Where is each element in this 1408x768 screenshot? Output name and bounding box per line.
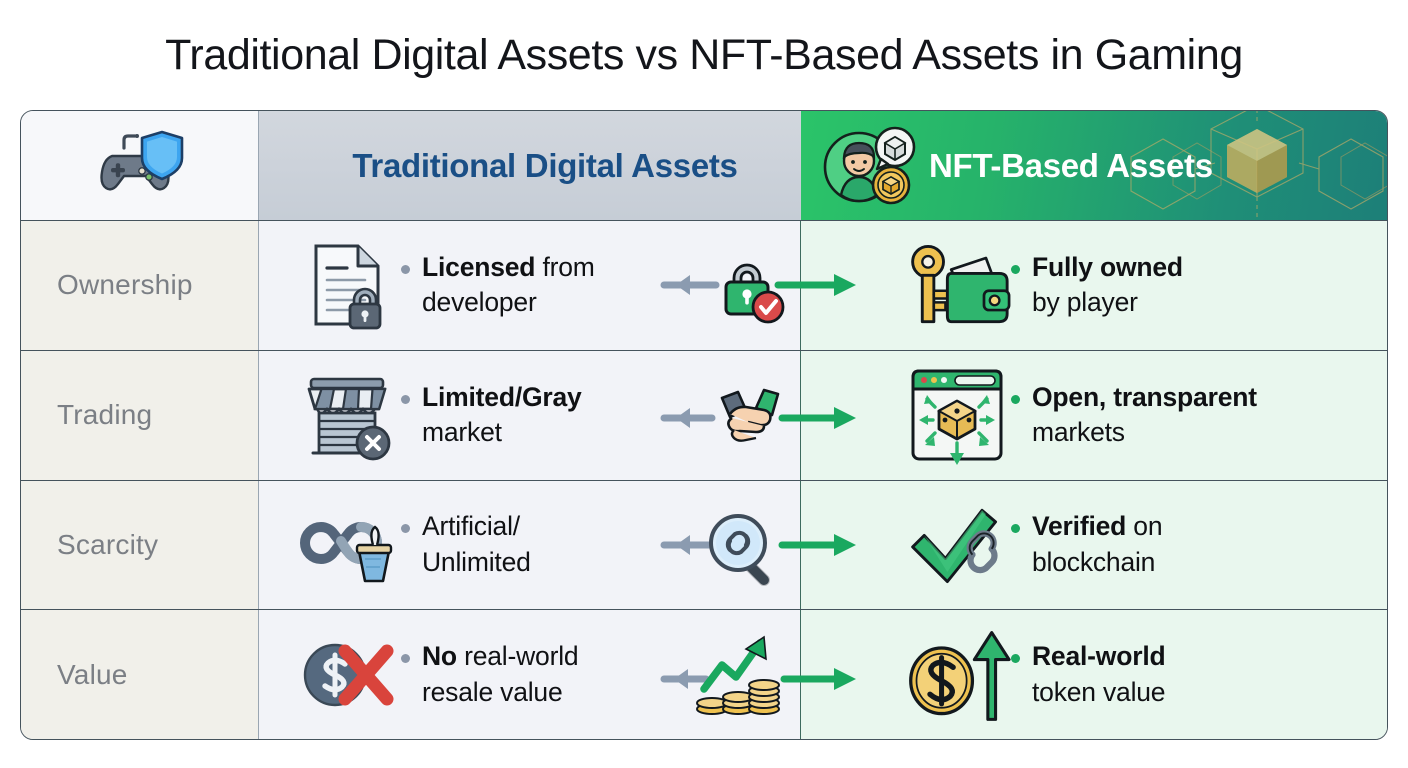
checkmark-chain-icon [903,499,1011,591]
bullet-dot-icon [1011,395,1020,404]
bullet-line2: by player [1032,287,1138,317]
cell-traditional-trading: Limited/Gray market [259,351,801,480]
bullet-line2: Unlimited [422,547,531,577]
bullet-line2: blockchain [1032,547,1155,577]
bullet-strong: No [422,641,457,671]
bullet-line2: developer [422,287,537,317]
page-title: Traditional Digital Assets vs NFT-Based … [0,0,1408,79]
bullet-traditional-ownership: Licensed from developer [401,250,605,321]
bullet-nft-trading: Open, transparent markets [1011,380,1267,451]
header-traditional-cell: Traditional Digital Assets [259,111,801,220]
bullet-dot-icon [1011,654,1020,663]
header-label-cell [21,111,259,220]
infinity-bucket-icon [293,505,401,585]
bullet-traditional-trading: Limited/Gray market [401,380,592,451]
bullet-strong: Licensed [422,252,535,282]
key-wallet-icon [903,239,1011,331]
cell-nft-value: Real-world token value [801,610,1387,739]
table-header-row: Traditional Digital Assets [21,111,1387,221]
header-nft-title: NFT-Based Assets [929,147,1213,185]
header-traditional-title: Traditional Digital Assets [352,147,737,185]
bullet-line2: token value [1032,677,1165,707]
avatar-nft-cube-icon [819,123,923,214]
cell-traditional-scarcity: Artificial/ Unlimited [259,481,801,610]
bullet-dot-icon [401,265,410,274]
bullet-rest: Artificial/ [422,511,520,541]
bullet-line2: resale value [422,677,563,707]
bullet-strong: Limited/Gray [422,382,582,412]
table-row: Trading [21,351,1387,481]
bullet-rest: on [1126,511,1162,541]
cell-nft-trading: Open, transparent markets [801,351,1387,480]
bullet-traditional-value: No real-world resale value [401,639,588,710]
row-label-value: Value [21,610,259,739]
row-label-ownership: Ownership [21,221,259,350]
dollar-coin-cross-icon [293,631,401,719]
table-row: Value No real-world resale value [21,610,1387,739]
row-label-scarcity: Scarcity [21,481,259,610]
bullet-nft-ownership: Fully owned by player [1011,250,1193,321]
bullet-strong: Verified [1032,511,1126,541]
bullet-strong: Fully owned [1032,252,1183,282]
bullet-strong: Real-world [1032,641,1165,671]
bullet-dot-icon [1011,524,1020,533]
bullet-traditional-scarcity: Artificial/ Unlimited [401,509,541,580]
bullet-line2: market [422,417,502,447]
bullet-dot-icon [401,654,410,663]
bullet-line2: markets [1032,417,1125,447]
bullet-dot-icon [401,395,410,404]
bullet-dot-icon [1011,265,1020,274]
header-nft-cell: NFT-Based Assets [801,111,1387,220]
bullet-nft-value: Real-world token value [1011,639,1175,710]
comparison-table: Traditional Digital Assets [20,110,1388,740]
cell-traditional-ownership: Licensed from developer [259,221,801,350]
dollar-coin-uparrow-icon [903,625,1011,725]
bullet-rest: from [535,252,594,282]
browser-marketplace-icon [903,363,1011,467]
document-lock-icon [293,238,401,332]
cell-nft-ownership: Fully owned by player [801,221,1387,350]
marketplace-blocked-icon [293,367,401,463]
bullet-dot-icon [401,524,410,533]
table-row: Scarcity Artificial/ Unlimi [21,481,1387,611]
bullet-nft-scarcity: Verified on blockchain [1011,509,1172,580]
cell-traditional-value: No real-world resale value [259,610,801,739]
row-label-trading: Trading [21,351,259,480]
cell-nft-scarcity: Verified on blockchain [801,481,1387,610]
bullet-rest: real-world [457,641,579,671]
gamepad-shield-icon [94,126,186,205]
bullet-strong: Open, transparent [1032,382,1257,412]
table-row: Ownership [21,221,1387,351]
